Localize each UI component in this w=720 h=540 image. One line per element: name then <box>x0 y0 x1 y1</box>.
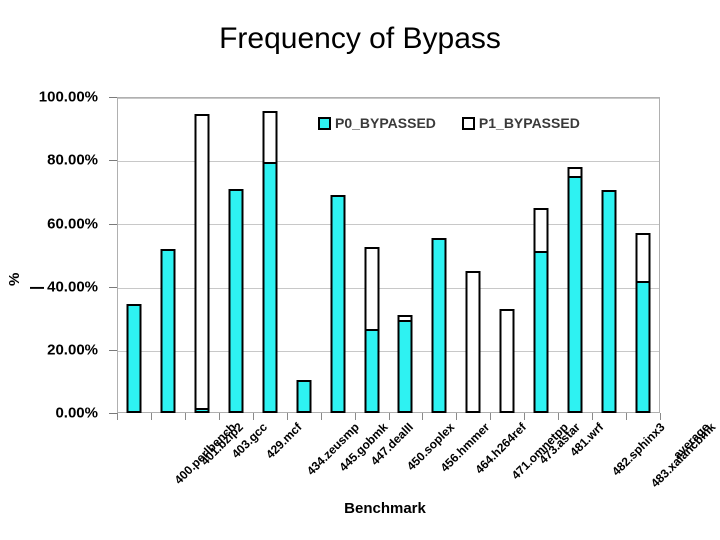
bar-segment-p1[interactable] <box>570 169 581 177</box>
x-tick-mark <box>151 413 152 420</box>
bar-segment-p0[interactable] <box>332 197 343 411</box>
bar-stack[interactable] <box>432 238 447 413</box>
x-tick-mark <box>660 413 661 420</box>
bar-stack[interactable] <box>534 208 549 413</box>
bar-group[interactable] <box>253 97 287 413</box>
y-tick-mark-100 <box>109 97 117 98</box>
y-tick-mark-60 <box>109 224 117 225</box>
bar-segment-p1[interactable] <box>264 113 275 161</box>
bar-segment-p0[interactable] <box>162 251 173 411</box>
x-axis-ticks <box>117 413 660 420</box>
y-axis-title-marker: | <box>28 286 45 290</box>
bar-stack[interactable] <box>262 111 277 413</box>
bar-group[interactable] <box>151 97 185 413</box>
bar-stack[interactable] <box>296 380 311 413</box>
bar-stack[interactable] <box>160 249 175 413</box>
x-tick-mark <box>185 413 186 420</box>
bar-segment-p1[interactable] <box>468 273 479 411</box>
bar-stack[interactable] <box>364 247 379 413</box>
bar-stack[interactable] <box>636 233 651 413</box>
legend-label-p1: P1_BYPASSED <box>479 115 580 131</box>
bar-segment-p1[interactable] <box>638 235 649 281</box>
bar-stack[interactable] <box>602 190 617 413</box>
x-tick-mark <box>558 413 559 420</box>
bar-group[interactable] <box>456 97 490 413</box>
bar-group[interactable] <box>558 97 592 413</box>
x-tick-mark <box>490 413 491 420</box>
legend-entry-p0: P0_BYPASSED <box>318 115 436 131</box>
bar-stack[interactable] <box>500 309 515 413</box>
x-tick-mark <box>253 413 254 420</box>
x-tick-mark <box>389 413 390 420</box>
bar-segment-p0[interactable] <box>570 176 581 411</box>
bar-group[interactable] <box>219 97 253 413</box>
x-tick-mark <box>287 413 288 420</box>
x-tick-mark <box>219 413 220 420</box>
bar-segment-p0[interactable] <box>638 281 649 411</box>
x-axis-title: Benchmark <box>0 500 720 517</box>
bar-group[interactable] <box>422 97 456 413</box>
bar-group[interactable] <box>490 97 524 413</box>
bar-stack[interactable] <box>194 114 209 413</box>
bar-stack[interactable] <box>398 315 413 413</box>
bar-group[interactable] <box>117 97 151 413</box>
x-tick-label: 429.mcf <box>263 420 305 462</box>
bar-stack[interactable] <box>568 167 583 413</box>
y-tick-mark-40 <box>109 287 117 288</box>
bar-segment-p0[interactable] <box>434 240 445 411</box>
x-tick-mark <box>456 413 457 420</box>
bar-stack[interactable] <box>330 195 345 413</box>
x-tick-mark <box>626 413 627 420</box>
y-axis: 100.00% 80.00% 60.00% 40.00% 20.00% 0.00… <box>0 0 112 540</box>
legend-entry-p1: P1_BYPASSED <box>462 115 580 131</box>
y-tick-mark-80 <box>109 160 117 161</box>
x-tick-mark <box>592 413 593 420</box>
bar-segment-p0[interactable] <box>230 191 241 411</box>
bar-stack[interactable] <box>466 271 481 413</box>
x-tick-mark <box>422 413 423 420</box>
bar-group[interactable] <box>592 97 626 413</box>
y-tick-label-80: 80.00% <box>47 152 98 169</box>
chart-legend: P0_BYPASSED P1_BYPASSED <box>318 115 580 131</box>
bar-group[interactable] <box>287 97 321 413</box>
x-tick-mark <box>524 413 525 420</box>
bar-group[interactable] <box>355 97 389 413</box>
bar-segment-p0[interactable] <box>128 306 139 411</box>
bar-segment-p0[interactable] <box>366 329 377 411</box>
bar-segment-p0[interactable] <box>604 192 615 411</box>
x-tick-mark <box>117 413 118 420</box>
bar-segment-p1[interactable] <box>196 116 207 407</box>
bar-segment-p0[interactable] <box>196 408 207 411</box>
bar-group[interactable] <box>389 97 423 413</box>
legend-swatch-icon-p0 <box>318 117 331 130</box>
bars-layer <box>117 97 660 413</box>
bar-group[interactable] <box>626 97 660 413</box>
x-axis-labels: 400.perlbench401.bzip2403.gcc429.mcf434.… <box>117 420 660 510</box>
y-tick-label-20: 20.00% <box>47 342 98 359</box>
bar-segment-p0[interactable] <box>264 162 275 411</box>
legend-swatch-icon-p1 <box>462 117 475 130</box>
bar-segment-p1[interactable] <box>502 311 513 411</box>
bar-segment-p0[interactable] <box>536 251 547 411</box>
y-tick-label-0: 0.00% <box>55 405 98 422</box>
y-tick-mark-0 <box>109 413 117 414</box>
y-tick-mark-20 <box>109 350 117 351</box>
y-tick-label-100: 100.00% <box>39 89 98 106</box>
legend-label-p0: P0_BYPASSED <box>335 115 436 131</box>
bar-stack[interactable] <box>228 189 243 413</box>
x-tick-mark <box>355 413 356 420</box>
bar-segment-p0[interactable] <box>298 382 309 411</box>
bar-segment-p1[interactable] <box>536 210 547 252</box>
x-tick-mark <box>321 413 322 420</box>
bar-segment-p0[interactable] <box>400 320 411 411</box>
bar-group[interactable] <box>185 97 219 413</box>
y-axis-title: % <box>6 273 23 286</box>
bar-group[interactable] <box>321 97 355 413</box>
y-tick-label-40: 40.00% <box>47 279 98 296</box>
bar-group[interactable] <box>524 97 558 413</box>
y-tick-label-60: 60.00% <box>47 216 98 233</box>
bar-stack[interactable] <box>126 304 141 413</box>
bar-segment-p1[interactable] <box>366 249 377 329</box>
